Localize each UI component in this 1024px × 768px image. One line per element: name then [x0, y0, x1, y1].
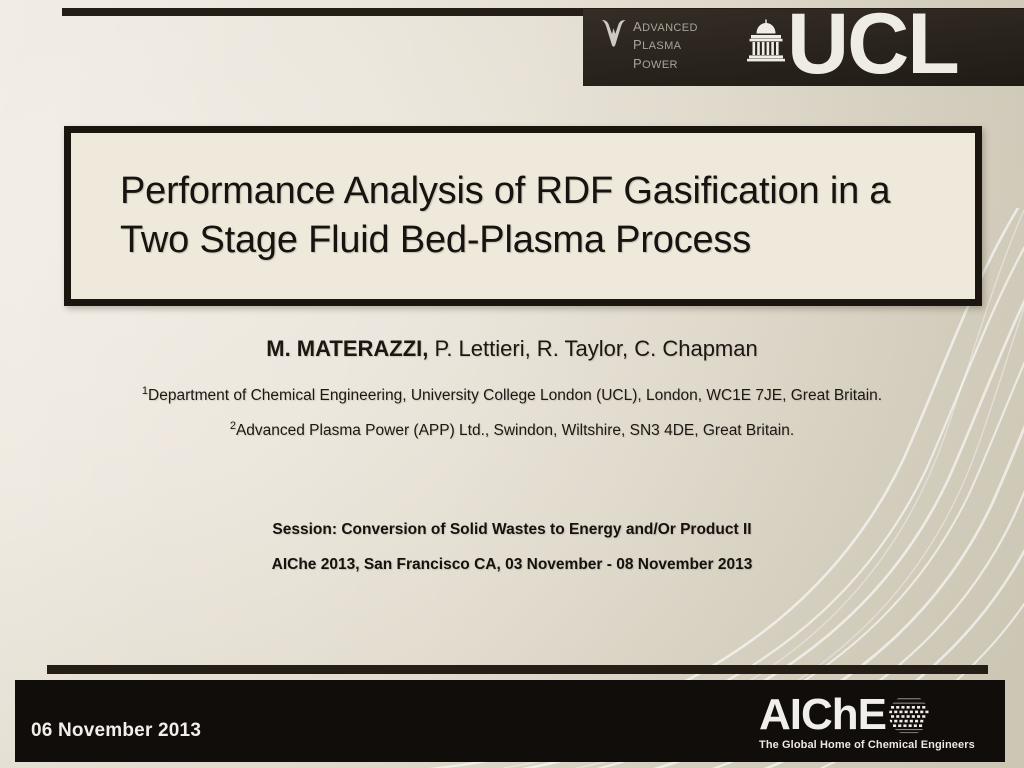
page-title: Performance Analysis of RDF Gasification…	[120, 167, 890, 264]
app-logo-line-1: Advanced	[633, 16, 698, 34]
title-line-1: Performance Analysis of RDF Gasification…	[120, 167, 890, 216]
lead-author: M. MATERAZZI,	[266, 336, 428, 361]
slide-canvas: Advanced Plasma Power	[0, 0, 1024, 768]
app-logo-wordmark: Advanced Plasma Power	[633, 16, 698, 71]
affiliation-1: 1Department of Chemical Engineering, Uni…	[0, 385, 1024, 405]
co-authors: P. Lettieri, R. Taylor, C. Chapman	[428, 336, 757, 361]
aiche-logo: AIChE	[759, 685, 991, 759]
ucl-wordmark: UCL	[787, 9, 958, 84]
title-box-fill: Performance Analysis of RDF Gasification…	[74, 136, 972, 296]
aiche-wordmark: AIChE	[759, 693, 886, 737]
title-box-inner-border: Performance Analysis of RDF Gasification…	[69, 131, 977, 301]
ucl-logo: UCL	[743, 9, 958, 84]
app-wing-mark-icon	[601, 18, 627, 48]
aiche-tagline: The Global Home of Chemical Engineers	[759, 739, 975, 751]
session-line: Session: Conversion of Solid Wastes to E…	[0, 521, 1024, 539]
aiche-logo-row: AIChE	[759, 693, 931, 737]
affiliation-1-text: Department of Chemical Engineering, Univ…	[148, 387, 882, 404]
footer-bar: 06 November 2013 AIChE	[15, 680, 1005, 762]
advanced-plasma-power-logo: Advanced Plasma Power	[601, 16, 698, 71]
author-line: M. MATERAZZI, P. Lettieri, R. Taylor, C.…	[0, 336, 1024, 362]
affiliation-2-text: Advanced Plasma Power (APP) Ltd., Swindo…	[236, 422, 794, 439]
title-line-2: Two Stage Fluid Bed-Plasma Process	[120, 216, 890, 265]
affiliation-2: 2Advanced Plasma Power (APP) Ltd., Swind…	[0, 420, 1024, 440]
footer-rule	[47, 665, 988, 674]
app-logo-line-3: Power	[633, 53, 698, 71]
title-box: Performance Analysis of RDF Gasification…	[64, 126, 982, 306]
header-logo-panel: Advanced Plasma Power	[583, 9, 1024, 86]
conference-line: AIChe 2013, San Francisco CA, 03 Novembe…	[0, 556, 1024, 574]
ucl-portico-icon	[743, 19, 789, 65]
app-logo-line-2: Plasma	[633, 34, 698, 52]
footer-date: 06 November 2013	[31, 720, 201, 742]
aiche-globe-icon	[887, 693, 931, 737]
